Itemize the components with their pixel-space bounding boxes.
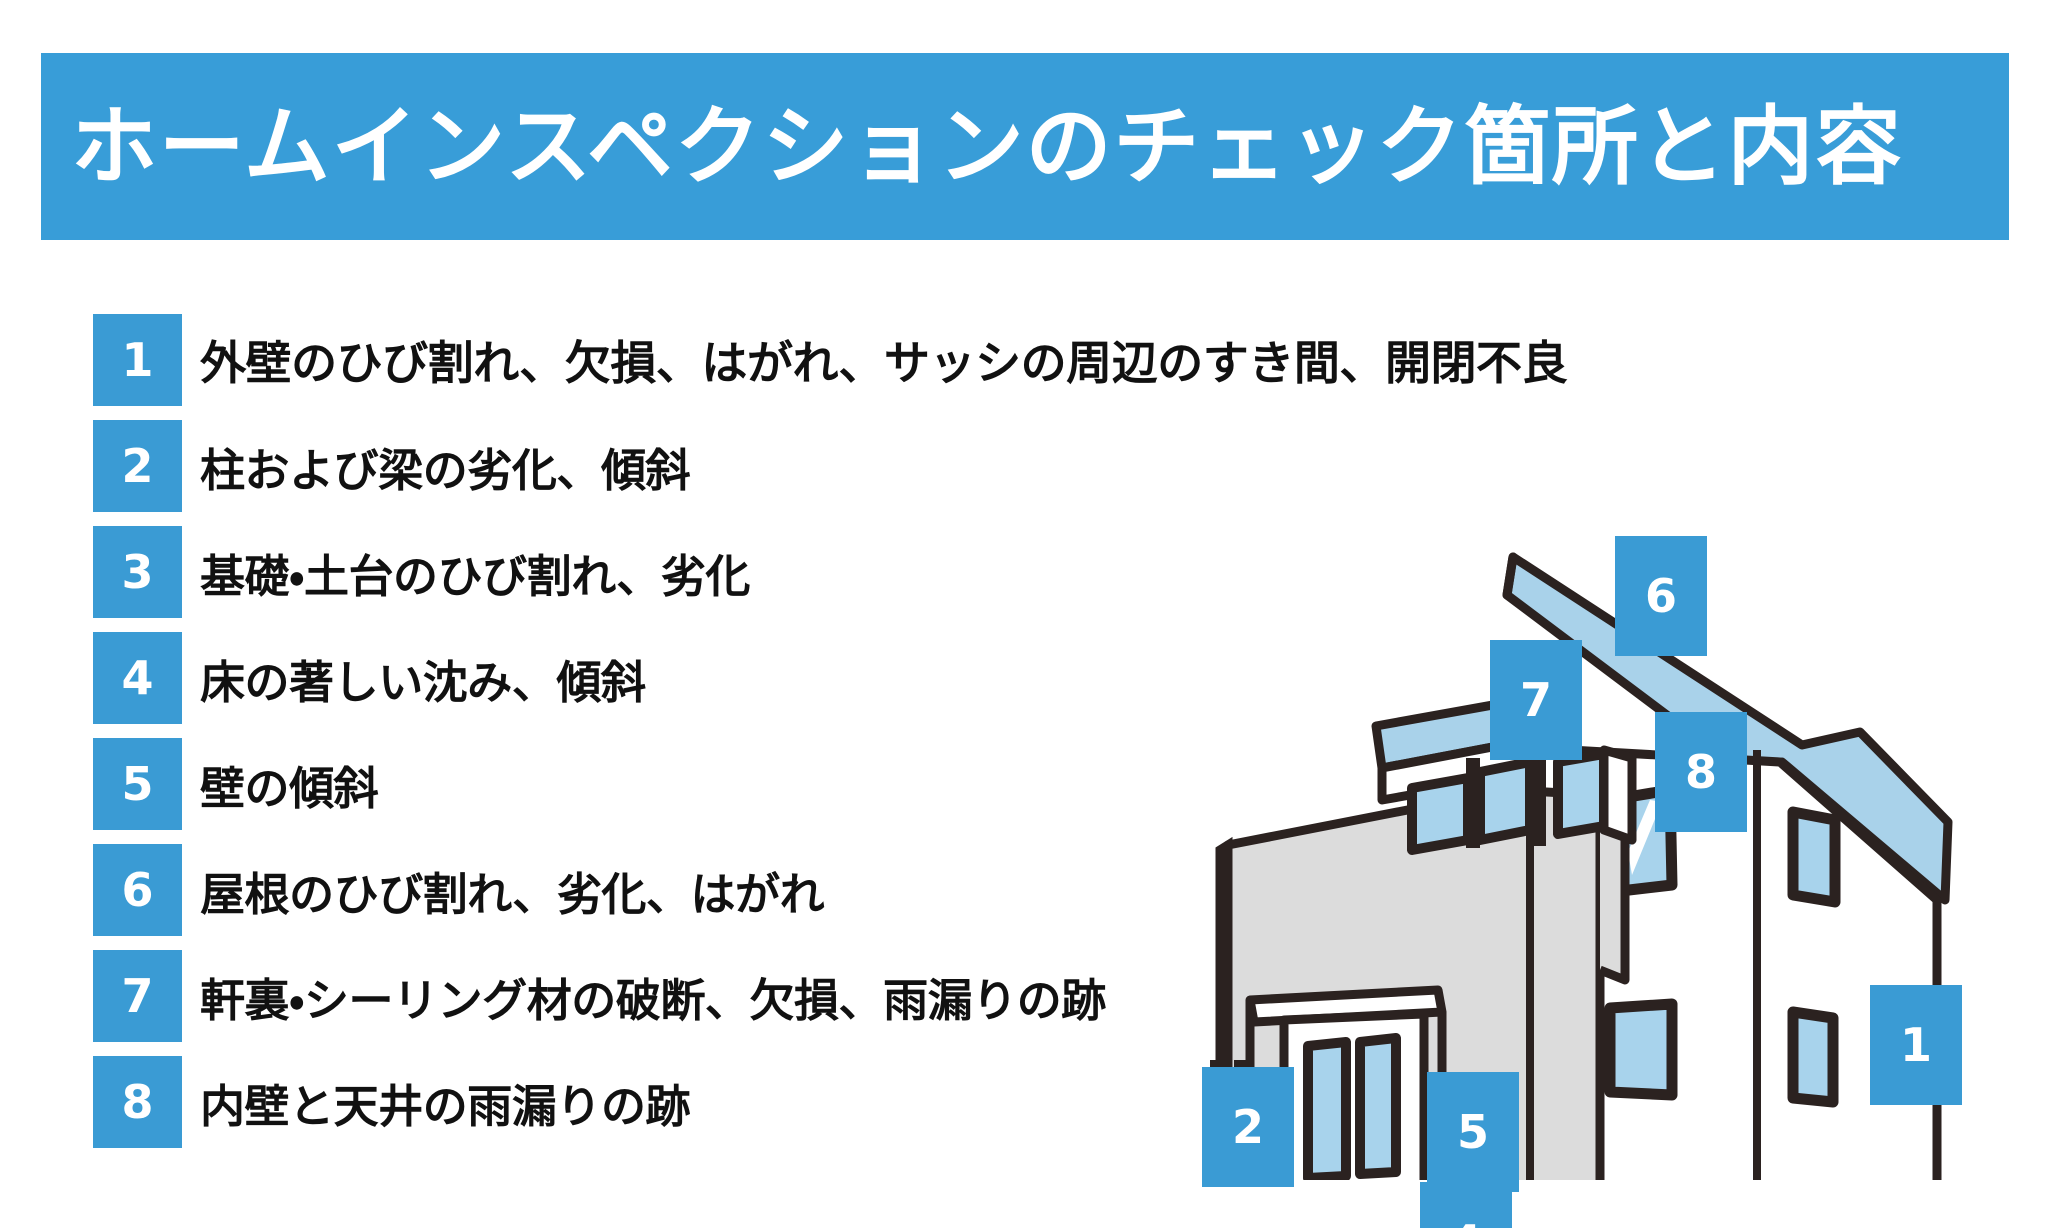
list-item: 3 基礎・土台のひび割れ、劣化: [93, 526, 1213, 632]
checklist-badge-4: 4: [93, 632, 182, 724]
checklist-text-4: 床の著しい沈み、傾斜: [200, 632, 646, 724]
checklist-text-1: 外壁のひび割れ、欠損、はがれ、サッシの周辺のすき間、開閉不良: [200, 314, 1567, 406]
header-banner: ホームインスペクションのチェック箇所と内容: [41, 53, 2009, 240]
checklist: 1 外壁のひび割れ、欠損、はがれ、サッシの周辺のすき間、開閉不良 2 柱および梁…: [93, 314, 1213, 1162]
checklist-text-2: 柱および梁の劣化、傾斜: [200, 420, 690, 512]
checklist-badge-2: 2: [93, 420, 182, 512]
list-item: 7 軒裏・シーリング材の破断、欠損、雨漏りの跡: [93, 950, 1213, 1056]
checklist-badge-7: 7: [93, 950, 182, 1042]
list-item: 2 柱および梁の劣化、傾斜: [93, 420, 1213, 526]
checklist-badge-1: 1: [93, 314, 182, 406]
marker-2[interactable]: 2: [1202, 1067, 1294, 1187]
checklist-text-3: 基礎・土台のひび割れ、劣化: [200, 526, 750, 618]
marker-5[interactable]: 5: [1427, 1072, 1519, 1192]
checklist-text-5: 壁の傾斜: [200, 738, 378, 830]
checklist-badge-5: 5: [93, 738, 182, 830]
list-item: 4 床の著しい沈み、傾斜: [93, 632, 1213, 738]
slide-canvas: ホームインスペクションのチェック箇所と内容 1 外壁のひび割れ、欠損、はがれ、サ…: [0, 0, 2048, 1228]
front-block-parapet: [1604, 750, 1632, 840]
list-item: 8 内壁と天井の雨漏りの跡: [93, 1056, 1213, 1162]
checklist-text-7: 軒裏・シーリング材の破断、欠損、雨漏りの跡: [200, 950, 1106, 1042]
checklist-badge-3: 3: [93, 526, 182, 618]
checklist-badge-6: 6: [93, 844, 182, 936]
list-item: 6 屋根のひび割れ、劣化、はがれ: [93, 844, 1213, 950]
checklist-text-6: 屋根のひび割れ、劣化、はがれ: [200, 844, 824, 936]
marker-8[interactable]: 8: [1655, 712, 1747, 832]
marker-7[interactable]: 7: [1490, 640, 1582, 760]
checklist-badge-8: 8: [93, 1056, 182, 1148]
marker-1[interactable]: 1: [1870, 985, 1962, 1105]
page-title: ホームインスペクションのチェック箇所と内容: [41, 104, 1903, 190]
marker-6[interactable]: 6: [1615, 536, 1707, 656]
list-item: 5 壁の傾斜: [93, 738, 1213, 844]
list-item: 1 外壁のひび割れ、欠損、はがれ、サッシの周辺のすき間、開閉不良: [93, 314, 1213, 420]
checklist-text-8: 内壁と天井の雨漏りの跡: [200, 1056, 690, 1148]
